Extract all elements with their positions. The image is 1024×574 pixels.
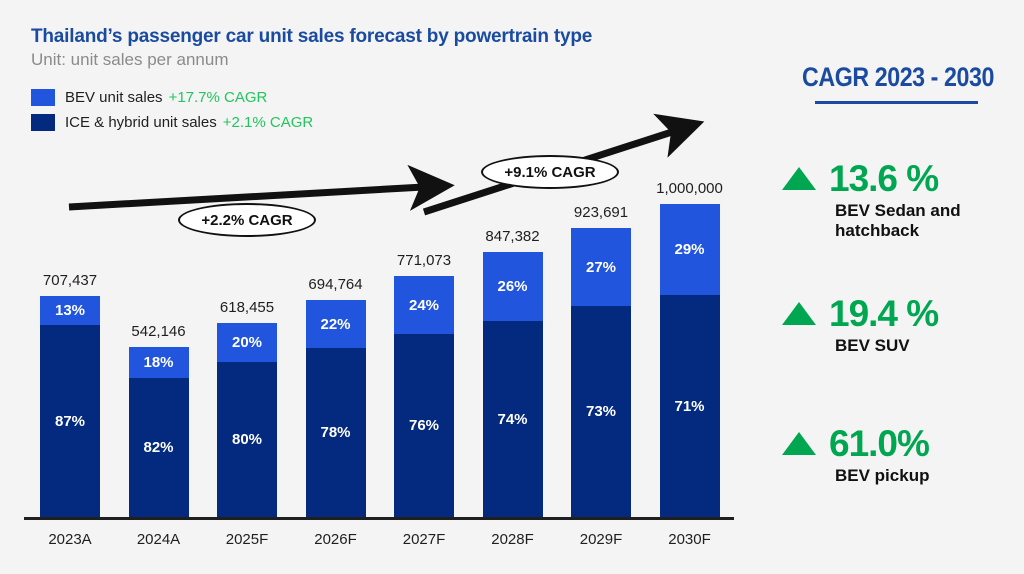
stat-value: 61.0% xyxy=(829,425,929,462)
bar-segment-ice[interactable]: 87% xyxy=(40,325,100,517)
x-axis-label: 2028F xyxy=(491,531,534,548)
x-axis-label: 2025F xyxy=(226,531,269,548)
bar-segment-ice[interactable]: 74% xyxy=(483,321,543,517)
bar-total-label: 923,691 xyxy=(574,204,628,221)
chart-page: Thailand’s passenger car unit sales fore… xyxy=(0,0,1024,574)
cagr-callout-2: +9.1% CAGR xyxy=(481,155,619,189)
bar-segment-bev[interactable]: 29% xyxy=(660,204,720,295)
cagr-callout-1-text: +2.2% CAGR xyxy=(201,212,292,229)
stat-label: BEV Sedan and hatchback xyxy=(835,201,1020,241)
bar-group[interactable]: 76%24%771,073 xyxy=(394,276,454,517)
x-axis-label: 2027F xyxy=(403,531,446,548)
bar-segment-bev[interactable]: 24% xyxy=(394,276,454,334)
stat-label: BEV SUV xyxy=(835,336,1020,356)
bar-segment-bev[interactable]: 20% xyxy=(217,323,277,362)
bar-chart-plot: 87%13%707,4372023A82%18%542,1462024A80%2… xyxy=(0,0,768,574)
stat-bev-sedan-hatchback: 13.6 % BEV Sedan and hatchback xyxy=(780,160,1020,241)
bar-segment-ice[interactable]: 73% xyxy=(571,306,631,517)
bar-segment-bev[interactable]: 13% xyxy=(40,296,100,325)
up-triangle-icon xyxy=(782,432,816,455)
bar-group[interactable]: 73%27%923,691 xyxy=(571,228,631,517)
bar-segment-bev[interactable]: 26% xyxy=(483,252,543,321)
bar-segment-bev[interactable]: 27% xyxy=(571,228,631,306)
bar-segment-bev[interactable]: 18% xyxy=(129,347,189,378)
bar-total-label: 1,000,000 xyxy=(656,180,723,197)
stat-label: BEV pickup xyxy=(835,466,1020,486)
x-axis-label: 2023A xyxy=(48,531,91,548)
bar-segment-ice[interactable]: 78% xyxy=(306,348,366,517)
bar-group[interactable]: 82%18%542,146 xyxy=(129,347,189,517)
bar-group[interactable]: 87%13%707,437 xyxy=(40,296,100,517)
bar-total-label: 707,437 xyxy=(43,272,97,289)
bar-segment-ice[interactable]: 71% xyxy=(660,295,720,517)
up-triangle-icon xyxy=(782,167,816,190)
cagr-callout-2-text: +9.1% CAGR xyxy=(504,164,595,181)
bar-segment-ice[interactable]: 76% xyxy=(394,334,454,517)
panel-title-underline xyxy=(815,101,978,104)
x-axis-label: 2030F xyxy=(668,531,711,548)
x-axis-line xyxy=(24,517,734,520)
x-axis-label: 2026F xyxy=(314,531,357,548)
cagr-callout-1: +2.2% CAGR xyxy=(178,203,316,237)
bar-total-label: 694,764 xyxy=(308,276,362,293)
x-axis-label: 2024A xyxy=(137,531,180,548)
bar-segment-bev[interactable]: 22% xyxy=(306,300,366,348)
bar-group[interactable]: 71%29%1,000,000 xyxy=(660,204,720,517)
stat-value: 13.6 % xyxy=(829,160,938,197)
bar-segment-ice[interactable]: 82% xyxy=(129,378,189,517)
bar-group[interactable]: 78%22%694,764 xyxy=(306,300,366,517)
stat-bev-suv: 19.4 % BEV SUV xyxy=(780,295,1020,356)
up-triangle-icon xyxy=(782,302,816,325)
bar-total-label: 542,146 xyxy=(131,323,185,340)
bar-group[interactable]: 80%20%618,455 xyxy=(217,323,277,517)
x-axis-label: 2029F xyxy=(580,531,623,548)
bar-total-label: 618,455 xyxy=(220,299,274,316)
bar-total-label: 771,073 xyxy=(397,252,451,269)
bar-total-label: 847,382 xyxy=(485,228,539,245)
bar-segment-ice[interactable]: 80% xyxy=(217,362,277,517)
bar-group[interactable]: 74%26%847,382 xyxy=(483,252,543,517)
stat-bev-pickup: 61.0% BEV pickup xyxy=(780,425,1020,486)
side-stats-panel: CAGR 2023 - 2030 13.6 % BEV Sedan and ha… xyxy=(768,0,1024,574)
panel-title: CAGR 2023 - 2030 xyxy=(800,62,996,93)
stat-value: 19.4 % xyxy=(829,295,938,332)
